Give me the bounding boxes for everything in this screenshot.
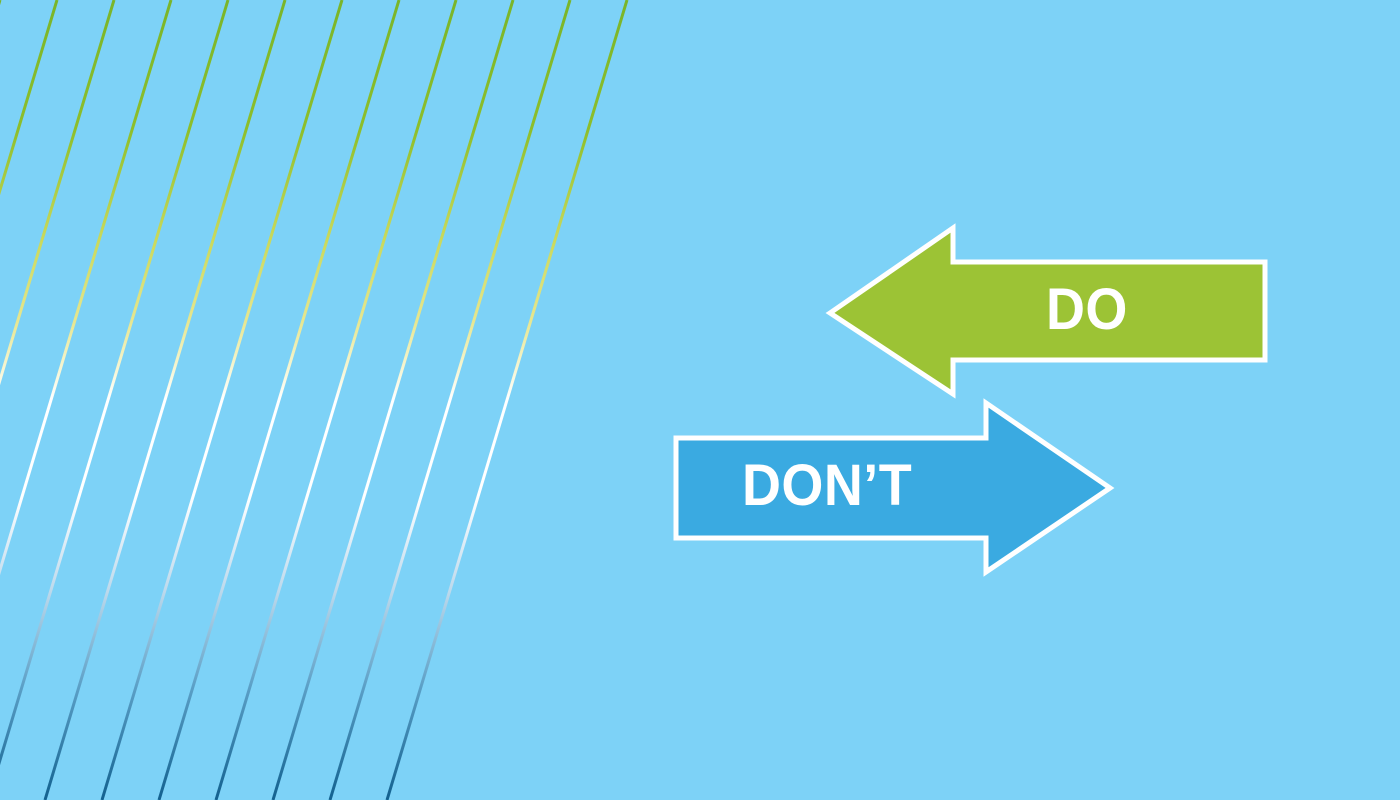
slide-canvas: DO DON’T: [0, 0, 1400, 800]
arrow-group: [0, 0, 1400, 800]
dont-arrow-label: DON’T: [742, 457, 912, 515]
do-arrow-label: DO: [1046, 281, 1128, 339]
